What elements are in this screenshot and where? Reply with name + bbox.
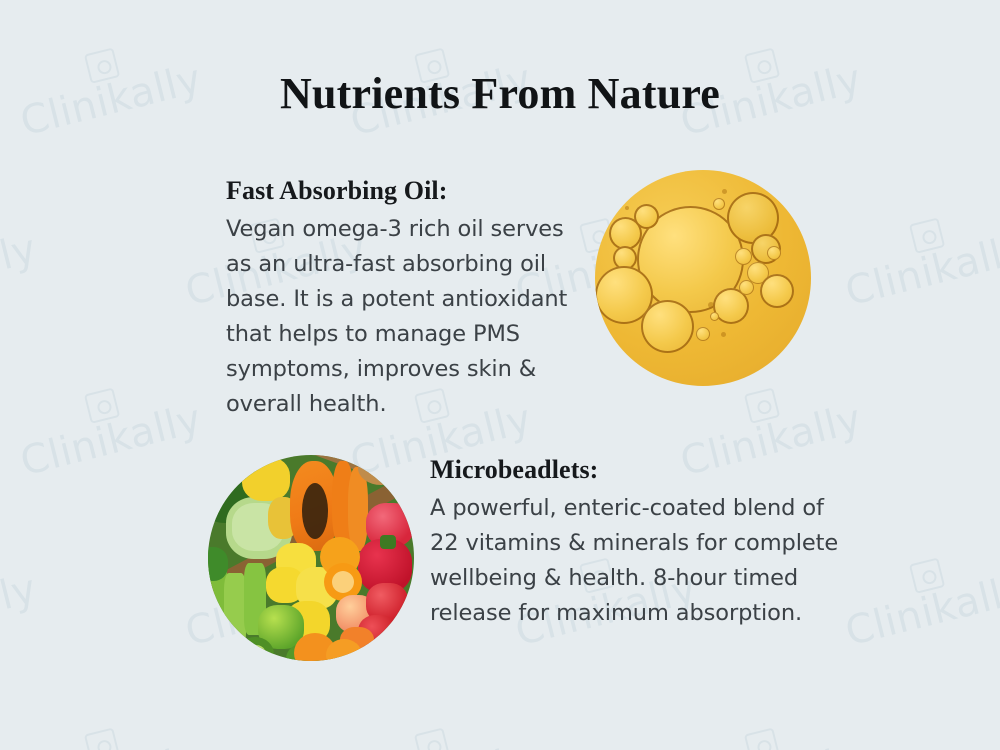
oil-bubble — [634, 204, 659, 229]
oil-bubble — [739, 280, 754, 295]
infographic-canvas: ClinikallyClinikallyClinikallyClinikally… — [0, 0, 1000, 750]
section-body-microbeadlets: A powerful, enteric-coated blend of 22 v… — [430, 491, 850, 631]
fruits-vegetables-photo — [208, 455, 414, 661]
oil-bubble — [696, 327, 710, 341]
veg-item — [242, 457, 290, 501]
oil-bubble — [713, 198, 725, 210]
oil-bubble — [767, 246, 781, 260]
section-body-oil: Vegan omega-3 rich oil serves as an ultr… — [226, 212, 591, 422]
papaya-seeds — [302, 483, 328, 539]
oil-bubble-dot — [721, 332, 726, 337]
pepper-stem — [380, 535, 396, 549]
oil-bubble — [735, 248, 752, 265]
content-layer: Nutrients From Nature Fast Absorbing Oil… — [0, 0, 1000, 750]
section-microbeadlets: Microbeadlets: A powerful, enteric-coate… — [430, 455, 850, 631]
orange-slice-flesh — [332, 571, 354, 593]
veg-item — [224, 573, 246, 649]
section-heading-microbeadlets: Microbeadlets: — [430, 455, 850, 485]
oil-bubble — [760, 274, 794, 308]
oil-bubble — [641, 300, 694, 353]
page-title: Nutrients From Nature — [0, 68, 1000, 119]
oil-bubble-dot — [625, 206, 629, 210]
kiwi-flesh — [246, 645, 266, 661]
oil-bubble-dot — [722, 189, 727, 194]
section-heading-oil: Fast Absorbing Oil: — [226, 176, 591, 206]
oil-bubbles-photo — [595, 170, 811, 386]
oil-bubble-dot — [708, 302, 714, 308]
oil-bubble — [710, 312, 719, 321]
section-fast-absorbing-oil: Fast Absorbing Oil: Vegan omega-3 rich o… — [226, 176, 591, 422]
